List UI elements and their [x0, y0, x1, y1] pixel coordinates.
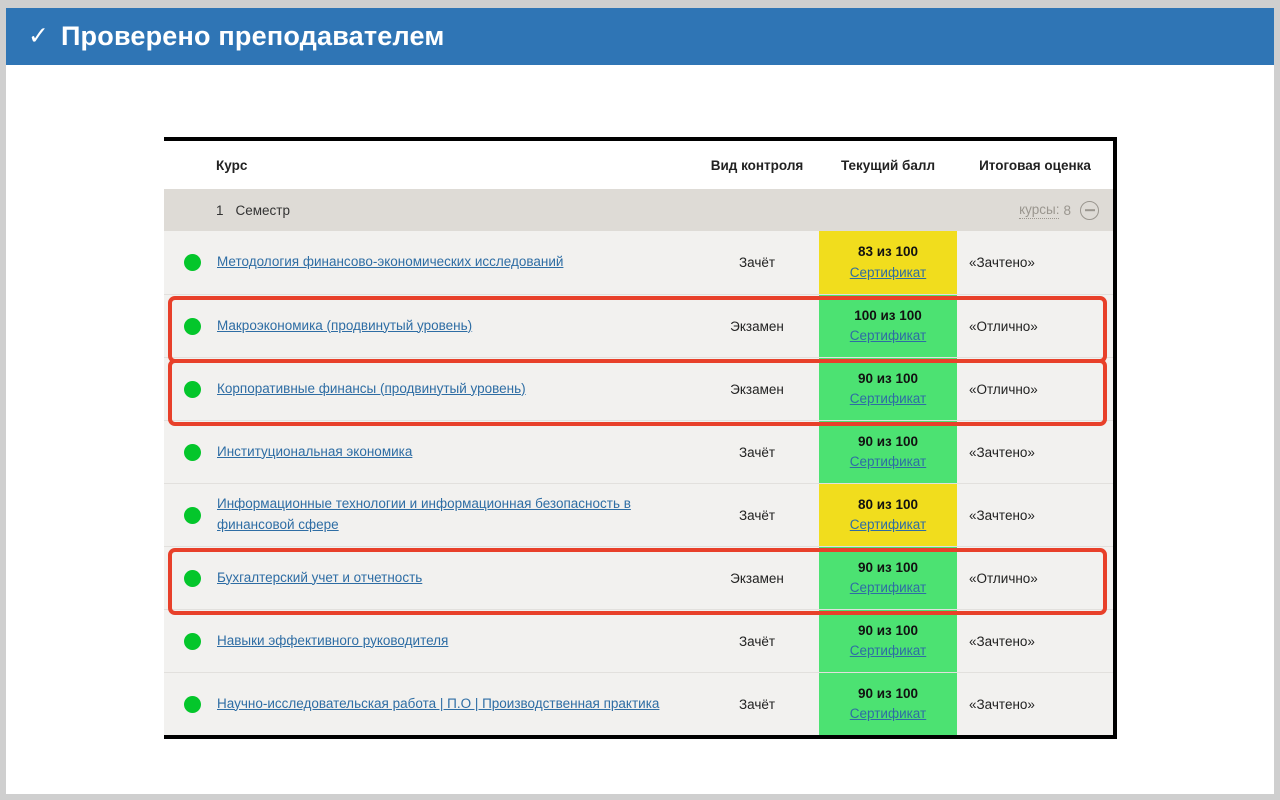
green-dot-icon — [184, 254, 201, 271]
page-root: ✓ Проверено преподавателем Курс Вид конт… — [0, 0, 1280, 800]
table-row[interactable]: Корпоративные финансы (продвинутый урове… — [164, 357, 1113, 420]
final-grade-cell: «Отлично» — [957, 547, 1113, 609]
control-type-cell: Зачёт — [695, 484, 819, 546]
control-type-cell: Зачёт — [695, 673, 819, 735]
course-link[interactable]: Научно-исследовательская работа | П.О | … — [217, 694, 659, 715]
courses-count-value: 8 — [1063, 203, 1071, 218]
banner-title: Проверено преподавателем — [61, 21, 445, 52]
score-value: 90 из 100 — [858, 369, 918, 389]
score-value: 90 из 100 — [858, 684, 918, 704]
course-link[interactable]: Методология финансово-экономических иссл… — [217, 252, 563, 273]
gradebook-table: Курс Вид контроля Текущий балл Итоговая … — [164, 137, 1117, 739]
certificate-link[interactable]: Сертификат — [850, 515, 926, 535]
final-grade-cell: «Зачтено» — [957, 610, 1113, 672]
table-row[interactable]: Научно-исследовательская работа | П.О | … — [164, 672, 1113, 735]
table-row[interactable]: Методология финансово-экономических иссл… — [164, 231, 1113, 294]
table-row[interactable]: Макроэкономика (продвинутый уровень)Экза… — [164, 294, 1113, 357]
control-type-cell: Зачёт — [695, 231, 819, 294]
final-grade-cell: «Зачтено» — [957, 484, 1113, 546]
certificate-link[interactable]: Сертификат — [850, 452, 926, 472]
score-cell: 90 из 100Сертификат — [819, 547, 957, 609]
certificate-link[interactable]: Сертификат — [850, 578, 926, 598]
score-value: 90 из 100 — [858, 432, 918, 452]
score-value: 90 из 100 — [858, 558, 918, 578]
certificate-link[interactable]: Сертификат — [850, 641, 926, 661]
course-link[interactable]: Институциональная экономика — [217, 442, 412, 463]
control-type-cell: Экзамен — [695, 295, 819, 357]
table-header-row: Курс Вид контроля Текущий балл Итоговая … — [164, 141, 1113, 189]
course-cell: Корпоративные финансы (продвинутый урове… — [164, 358, 695, 420]
score-value: 100 из 100 — [854, 306, 922, 326]
final-grade-cell: «Зачтено» — [957, 673, 1113, 735]
verified-banner: ✓ Проверено преподавателем — [6, 8, 1274, 65]
minus-circle-icon[interactable] — [1080, 201, 1099, 220]
certificate-link[interactable]: Сертификат — [850, 704, 926, 724]
column-header-control-type: Вид контроля — [695, 141, 819, 189]
course-link[interactable]: Корпоративные финансы (продвинутый урове… — [217, 379, 526, 400]
table-body: Методология финансово-экономических иссл… — [164, 231, 1113, 735]
course-cell: Научно-исследовательская работа | П.О | … — [164, 673, 695, 735]
control-type-cell: Зачёт — [695, 610, 819, 672]
green-dot-icon — [184, 507, 201, 524]
green-dot-icon — [184, 570, 201, 587]
table-row[interactable]: Информационные технологии и информационн… — [164, 483, 1113, 546]
course-cell: Методология финансово-экономических иссл… — [164, 231, 695, 294]
check-mark-icon: ✓ — [28, 24, 49, 49]
control-type-cell: Экзамен — [695, 358, 819, 420]
course-cell: Информационные технологии и информационн… — [164, 484, 695, 546]
score-cell: 90 из 100Сертификат — [819, 610, 957, 672]
certificate-link[interactable]: Сертификат — [850, 326, 926, 346]
column-header-course: Курс — [164, 141, 695, 189]
semester-name: Семестр — [236, 203, 291, 218]
course-cell: Институциональная экономика — [164, 421, 695, 483]
table-row[interactable]: Навыки эффективного руководителяЗачёт90 … — [164, 609, 1113, 672]
course-cell: Бухгалтерский учет и отчетность — [164, 547, 695, 609]
course-link[interactable]: Информационные технологии и информационн… — [217, 494, 685, 536]
courses-count-label: курсы: — [1019, 202, 1059, 219]
final-grade-cell: «Зачтено» — [957, 421, 1113, 483]
green-dot-icon — [184, 381, 201, 398]
green-dot-icon — [184, 696, 201, 713]
certificate-link[interactable]: Сертификат — [850, 389, 926, 409]
semester-group-row[interactable]: 1 Семестр курсы: 8 — [164, 189, 1113, 231]
certificate-link[interactable]: Сертификат — [850, 263, 926, 283]
score-cell: 100 из 100Сертификат — [819, 295, 957, 357]
course-link[interactable]: Бухгалтерский учет и отчетность — [217, 568, 422, 589]
semester-number: 1 — [216, 203, 224, 218]
course-link[interactable]: Макроэкономика (продвинутый уровень) — [217, 316, 472, 337]
course-cell: Макроэкономика (продвинутый уровень) — [164, 295, 695, 357]
green-dot-icon — [184, 444, 201, 461]
green-dot-icon — [184, 633, 201, 650]
score-cell: 90 из 100Сертификат — [819, 673, 957, 735]
course-link[interactable]: Навыки эффективного руководителя — [217, 631, 448, 652]
semester-label-group: 1 Семестр — [164, 203, 1019, 218]
column-header-current-score: Текущий балл — [819, 141, 957, 189]
table-row[interactable]: Институциональная экономикаЗачёт90 из 10… — [164, 420, 1113, 483]
final-grade-cell: «Отлично» — [957, 295, 1113, 357]
score-cell: 90 из 100Сертификат — [819, 358, 957, 420]
column-header-final-grade: Итоговая оценка — [957, 141, 1113, 189]
control-type-cell: Зачёт — [695, 421, 819, 483]
final-grade-cell: «Отлично» — [957, 358, 1113, 420]
score-value: 90 из 100 — [858, 621, 918, 641]
score-value: 83 из 100 — [858, 242, 918, 262]
green-dot-icon — [184, 318, 201, 335]
score-cell: 90 из 100Сертификат — [819, 421, 957, 483]
control-type-cell: Экзамен — [695, 547, 819, 609]
score-cell: 83 из 100Сертификат — [819, 231, 957, 294]
table-row[interactable]: Бухгалтерский учет и отчетностьЭкзамен90… — [164, 546, 1113, 609]
semester-courses-count-group[interactable]: курсы: 8 — [1019, 201, 1113, 220]
course-cell: Навыки эффективного руководителя — [164, 610, 695, 672]
score-cell: 80 из 100Сертификат — [819, 484, 957, 546]
score-value: 80 из 100 — [858, 495, 918, 515]
final-grade-cell: «Зачтено» — [957, 231, 1113, 294]
